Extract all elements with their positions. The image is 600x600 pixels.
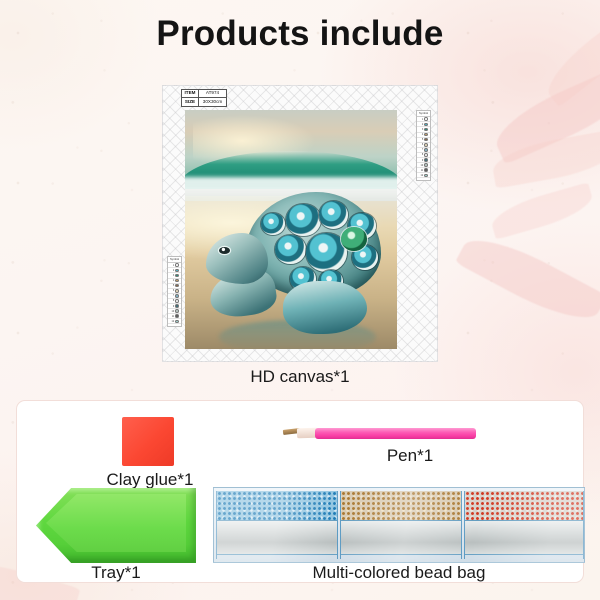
legend-number: 9 — [170, 305, 174, 308]
legend-color-dot — [424, 128, 428, 132]
turtle-rear-flipper — [283, 281, 367, 334]
caption-hd-canvas: HD canvas*1 — [0, 367, 600, 387]
legend-color-dot — [424, 133, 428, 137]
legend-color-dot — [424, 158, 428, 162]
symbol-legend-title: Symbol — [168, 258, 181, 263]
turtle-eye — [219, 247, 230, 254]
legend-color-dot — [424, 143, 428, 147]
turtle-head — [206, 233, 268, 283]
legend-color-dot — [424, 168, 428, 172]
legend-color-dot — [175, 309, 179, 313]
pen-body — [315, 428, 476, 439]
gold-beads — [341, 491, 461, 520]
canvas-artwork — [185, 110, 397, 349]
table-row: ITEM AT974 — [182, 90, 227, 98]
symbol-legend-left: Symbol 1 2 3 4 5 6 7 8 9 10 11 12 — [167, 256, 182, 327]
product-infographic: Products include ITEM AT974 SIZE 30X30cm — [0, 0, 600, 600]
legend-number: 4 — [170, 279, 174, 282]
legend-number: 8 — [170, 299, 174, 302]
spec-value-size: 30X30cm — [199, 98, 227, 106]
caption-bead-bag: Multi-colored bead bag — [213, 563, 585, 583]
legend-number: 8 — [419, 153, 423, 156]
caption-pen: Pen*1 — [330, 446, 490, 466]
bead-foil-backing — [341, 520, 461, 555]
legend-color-dot — [175, 284, 179, 288]
legend-number: 4 — [419, 133, 423, 136]
legend-color-dot — [175, 274, 179, 278]
legend-number: 6 — [170, 289, 174, 292]
legend-color-dot — [424, 163, 428, 167]
legend-number: 11 — [170, 315, 174, 318]
turtle-scute — [319, 201, 348, 229]
bead-bag-item — [213, 487, 585, 563]
bead-compartment — [340, 491, 462, 559]
legend-number: 9 — [419, 159, 423, 162]
spec-key-size: SIZE — [182, 98, 199, 106]
legend-color-dot — [175, 263, 179, 267]
legend-color-dot — [175, 269, 179, 273]
bead-compartment — [216, 491, 338, 559]
legend-color-dot — [175, 320, 179, 324]
legend-number: 2 — [170, 269, 174, 272]
legend-color-dot — [424, 117, 428, 121]
table-row: SIZE 30X30cm — [182, 98, 227, 106]
legend-color-dot — [424, 153, 428, 157]
legend-number: 5 — [419, 138, 423, 141]
symbol-legend-title: Symbol — [417, 112, 430, 117]
artwork-turtle — [206, 189, 388, 337]
bead-foil-backing — [465, 520, 583, 555]
legend-color-dot — [175, 304, 179, 308]
bead-compartment — [464, 491, 584, 559]
legend-row: 12 — [168, 319, 181, 324]
turtle-scute — [261, 213, 285, 235]
legend-number: 10 — [170, 310, 174, 313]
legend-number: 3 — [170, 274, 174, 277]
symbol-legend-right: Symbol 1 2 3 4 5 6 7 8 9 10 11 12 — [416, 110, 431, 181]
legend-number: 12 — [419, 174, 423, 177]
legend-number: 12 — [170, 320, 174, 323]
legend-number: 7 — [170, 294, 174, 297]
legend-color-dot — [175, 289, 179, 293]
legend-color-dot — [424, 123, 428, 127]
legend-color-dot — [175, 314, 179, 318]
page-title: Products include — [0, 14, 600, 54]
legend-number: 11 — [419, 169, 423, 172]
caption-tray: Tray*1 — [36, 563, 196, 583]
hd-canvas-product: ITEM AT974 SIZE 30X30cm — [162, 85, 438, 362]
red-beads — [465, 491, 583, 520]
legend-number: 6 — [419, 143, 423, 146]
legend-number: 3 — [419, 128, 423, 131]
legend-number: 1 — [419, 118, 423, 121]
legend-color-dot — [175, 299, 179, 303]
legend-number: 2 — [419, 123, 423, 126]
legend-color-dot — [424, 174, 428, 178]
spec-value-item: AT974 — [199, 90, 227, 98]
bead-foil-backing — [217, 520, 337, 555]
turtle-gem — [341, 227, 367, 251]
spec-key-item: ITEM — [182, 90, 199, 98]
legend-number: 7 — [419, 148, 423, 151]
legend-number: 10 — [419, 164, 423, 167]
blue-beads — [217, 491, 337, 520]
legend-color-dot — [424, 138, 428, 142]
page-title-text: Products include — [156, 14, 443, 53]
legend-number: 5 — [170, 284, 174, 287]
legend-number: 1 — [170, 264, 174, 267]
clay-glue-item — [122, 417, 174, 466]
legend-row: 12 — [417, 173, 430, 178]
legend-color-dot — [424, 148, 428, 152]
spec-table: ITEM AT974 SIZE 30X30cm — [181, 89, 227, 107]
legend-color-dot — [175, 294, 179, 298]
turtle-scute — [286, 204, 321, 237]
legend-color-dot — [175, 279, 179, 283]
